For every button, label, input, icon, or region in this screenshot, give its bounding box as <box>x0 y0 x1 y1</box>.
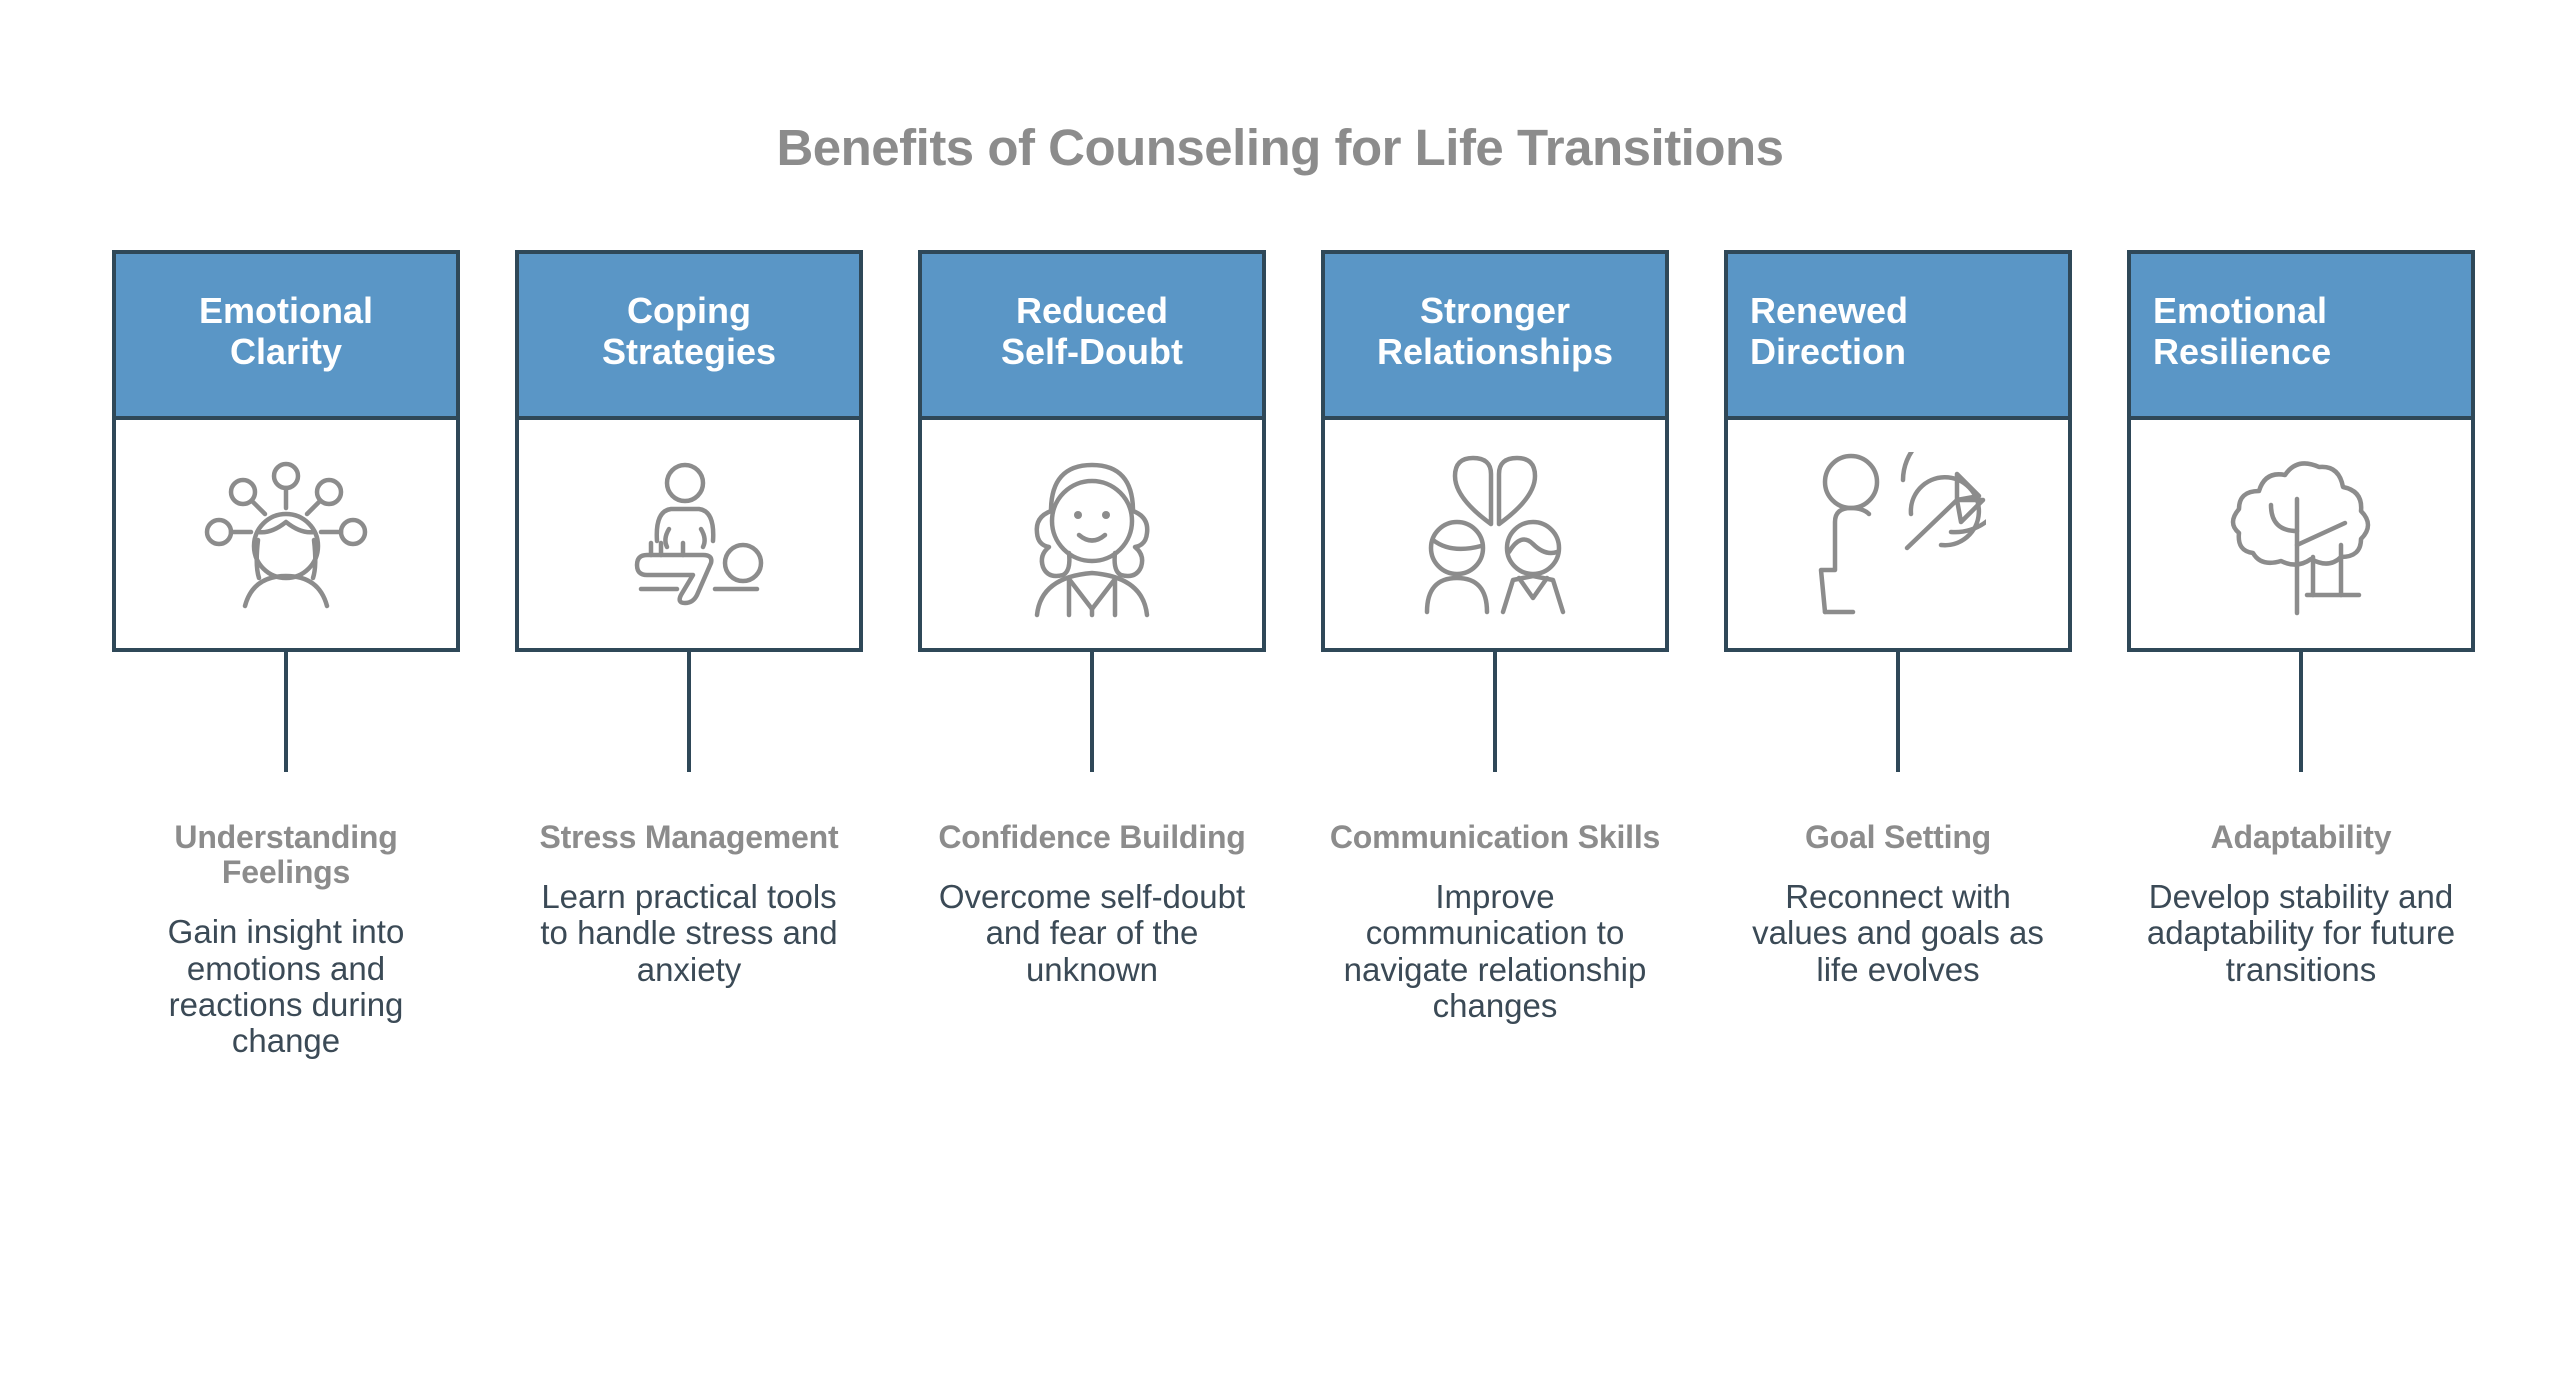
benefit-column-emotional-clarity: Emotional Clarity <box>112 250 460 1060</box>
card-header: Reduced Self-Doubt <box>922 254 1262 420</box>
card-header: Coping Strategies <box>519 254 859 420</box>
benefit-column-stronger-relationships: Stronger Relationships <box>1321 250 1669 1060</box>
benefit-subheading: Stress Management <box>540 820 839 855</box>
card-connector-line <box>687 652 691 772</box>
card-title-line-2: Strategies <box>602 331 776 372</box>
card-title: Emotional Clarity <box>199 291 373 372</box>
card-title: Stronger Relationships <box>1377 291 1613 372</box>
card-icon-area <box>519 420 859 648</box>
card-title: Renewed Direction <box>1750 291 1908 372</box>
benefit-card[interactable]: Reduced Self-Doubt <box>918 250 1266 652</box>
card-icon-area <box>1728 420 2068 648</box>
benefit-column-emotional-resilience: Emotional Resilience <box>2127 250 2475 1060</box>
benefit-columns: Emotional Clarity <box>112 250 2448 1060</box>
benefit-subheading: Confidence Building <box>938 820 1245 855</box>
card-title-line-1: Reduced <box>1016 290 1168 331</box>
benefit-card[interactable]: Emotional Resilience <box>2127 250 2475 652</box>
card-connector-line <box>1493 652 1497 772</box>
card-title-line-1: Emotional <box>2153 290 2327 331</box>
benefit-card[interactable]: Stronger Relationships <box>1321 250 1669 652</box>
card-connector-line <box>1090 652 1094 772</box>
card-connector-line <box>1896 652 1900 772</box>
page-title: Benefits of Counseling for Life Transiti… <box>0 118 2560 177</box>
benefit-subheading: Communication Skills <box>1330 820 1660 855</box>
card-title-line-2: Self-Doubt <box>1001 331 1183 372</box>
card-icon-area <box>922 420 1262 648</box>
card-title-line-2: Relationships <box>1377 331 1613 372</box>
benefit-description: Gain insight into emotions and reactions… <box>126 914 446 1059</box>
supported-tree-icon <box>2219 449 2384 619</box>
benefit-description: Develop stability and adaptability for f… <box>2141 879 2461 988</box>
benefit-description: Improve communication to navigate relati… <box>1335 879 1655 1024</box>
benefit-description: Learn practical tools to handle stress a… <box>529 879 849 988</box>
card-title-line-1: Renewed <box>1750 290 1908 331</box>
person-target-arrow-icon <box>1811 452 1986 617</box>
card-connector-line <box>2299 652 2303 772</box>
benefit-subheading: Adaptability <box>2211 820 2392 855</box>
smiling-person-icon <box>1007 449 1177 619</box>
benefit-card[interactable]: Emotional Clarity <box>112 250 460 652</box>
card-title-line-1: Coping <box>627 290 751 331</box>
infographic-canvas: Benefits of Counseling for Life Transiti… <box>0 0 2560 1393</box>
card-header: Emotional Clarity <box>116 254 456 420</box>
card-connector-line <box>284 652 288 772</box>
card-header: Emotional Resilience <box>2131 254 2471 420</box>
card-title: Coping Strategies <box>602 291 776 372</box>
card-title-line-1: Stronger <box>1420 290 1570 331</box>
head-with-thought-nodes-icon <box>201 454 371 614</box>
card-header: Stronger Relationships <box>1325 254 1665 420</box>
benefit-card[interactable]: Renewed Direction <box>1724 250 2072 652</box>
benefit-description: Reconnect with values and goals as life … <box>1738 879 2058 988</box>
card-icon-area <box>2131 420 2471 648</box>
card-title: Reduced Self-Doubt <box>1001 291 1183 372</box>
card-title-line-1: Emotional <box>199 290 373 331</box>
card-title-line-2: Resilience <box>2153 331 2331 372</box>
benefit-description: Overcome self-doubt and fear of the unkn… <box>932 879 1252 988</box>
benefit-column-reduced-self-doubt: Reduced Self-Doubt <box>918 250 1266 1060</box>
benefit-column-coping-strategies: Coping Strategies <box>515 250 863 1060</box>
benefit-column-renewed-direction: Renewed Direction <box>1724 250 2072 1060</box>
card-icon-area <box>116 420 456 648</box>
card-header: Renewed Direction <box>1728 254 2068 420</box>
card-icon-area <box>1325 420 1665 648</box>
benefit-subheading: Goal Setting <box>1805 820 1991 855</box>
two-people-split-heart-icon <box>1405 452 1585 617</box>
benefit-subheading: Understanding Feelings <box>112 820 460 890</box>
benefit-card[interactable]: Coping Strategies <box>515 250 863 652</box>
card-title: Emotional Resilience <box>2153 291 2331 372</box>
massage-therapy-icon <box>599 459 779 609</box>
card-title-line-2: Clarity <box>230 331 342 372</box>
card-title-line-2: Direction <box>1750 331 1906 372</box>
